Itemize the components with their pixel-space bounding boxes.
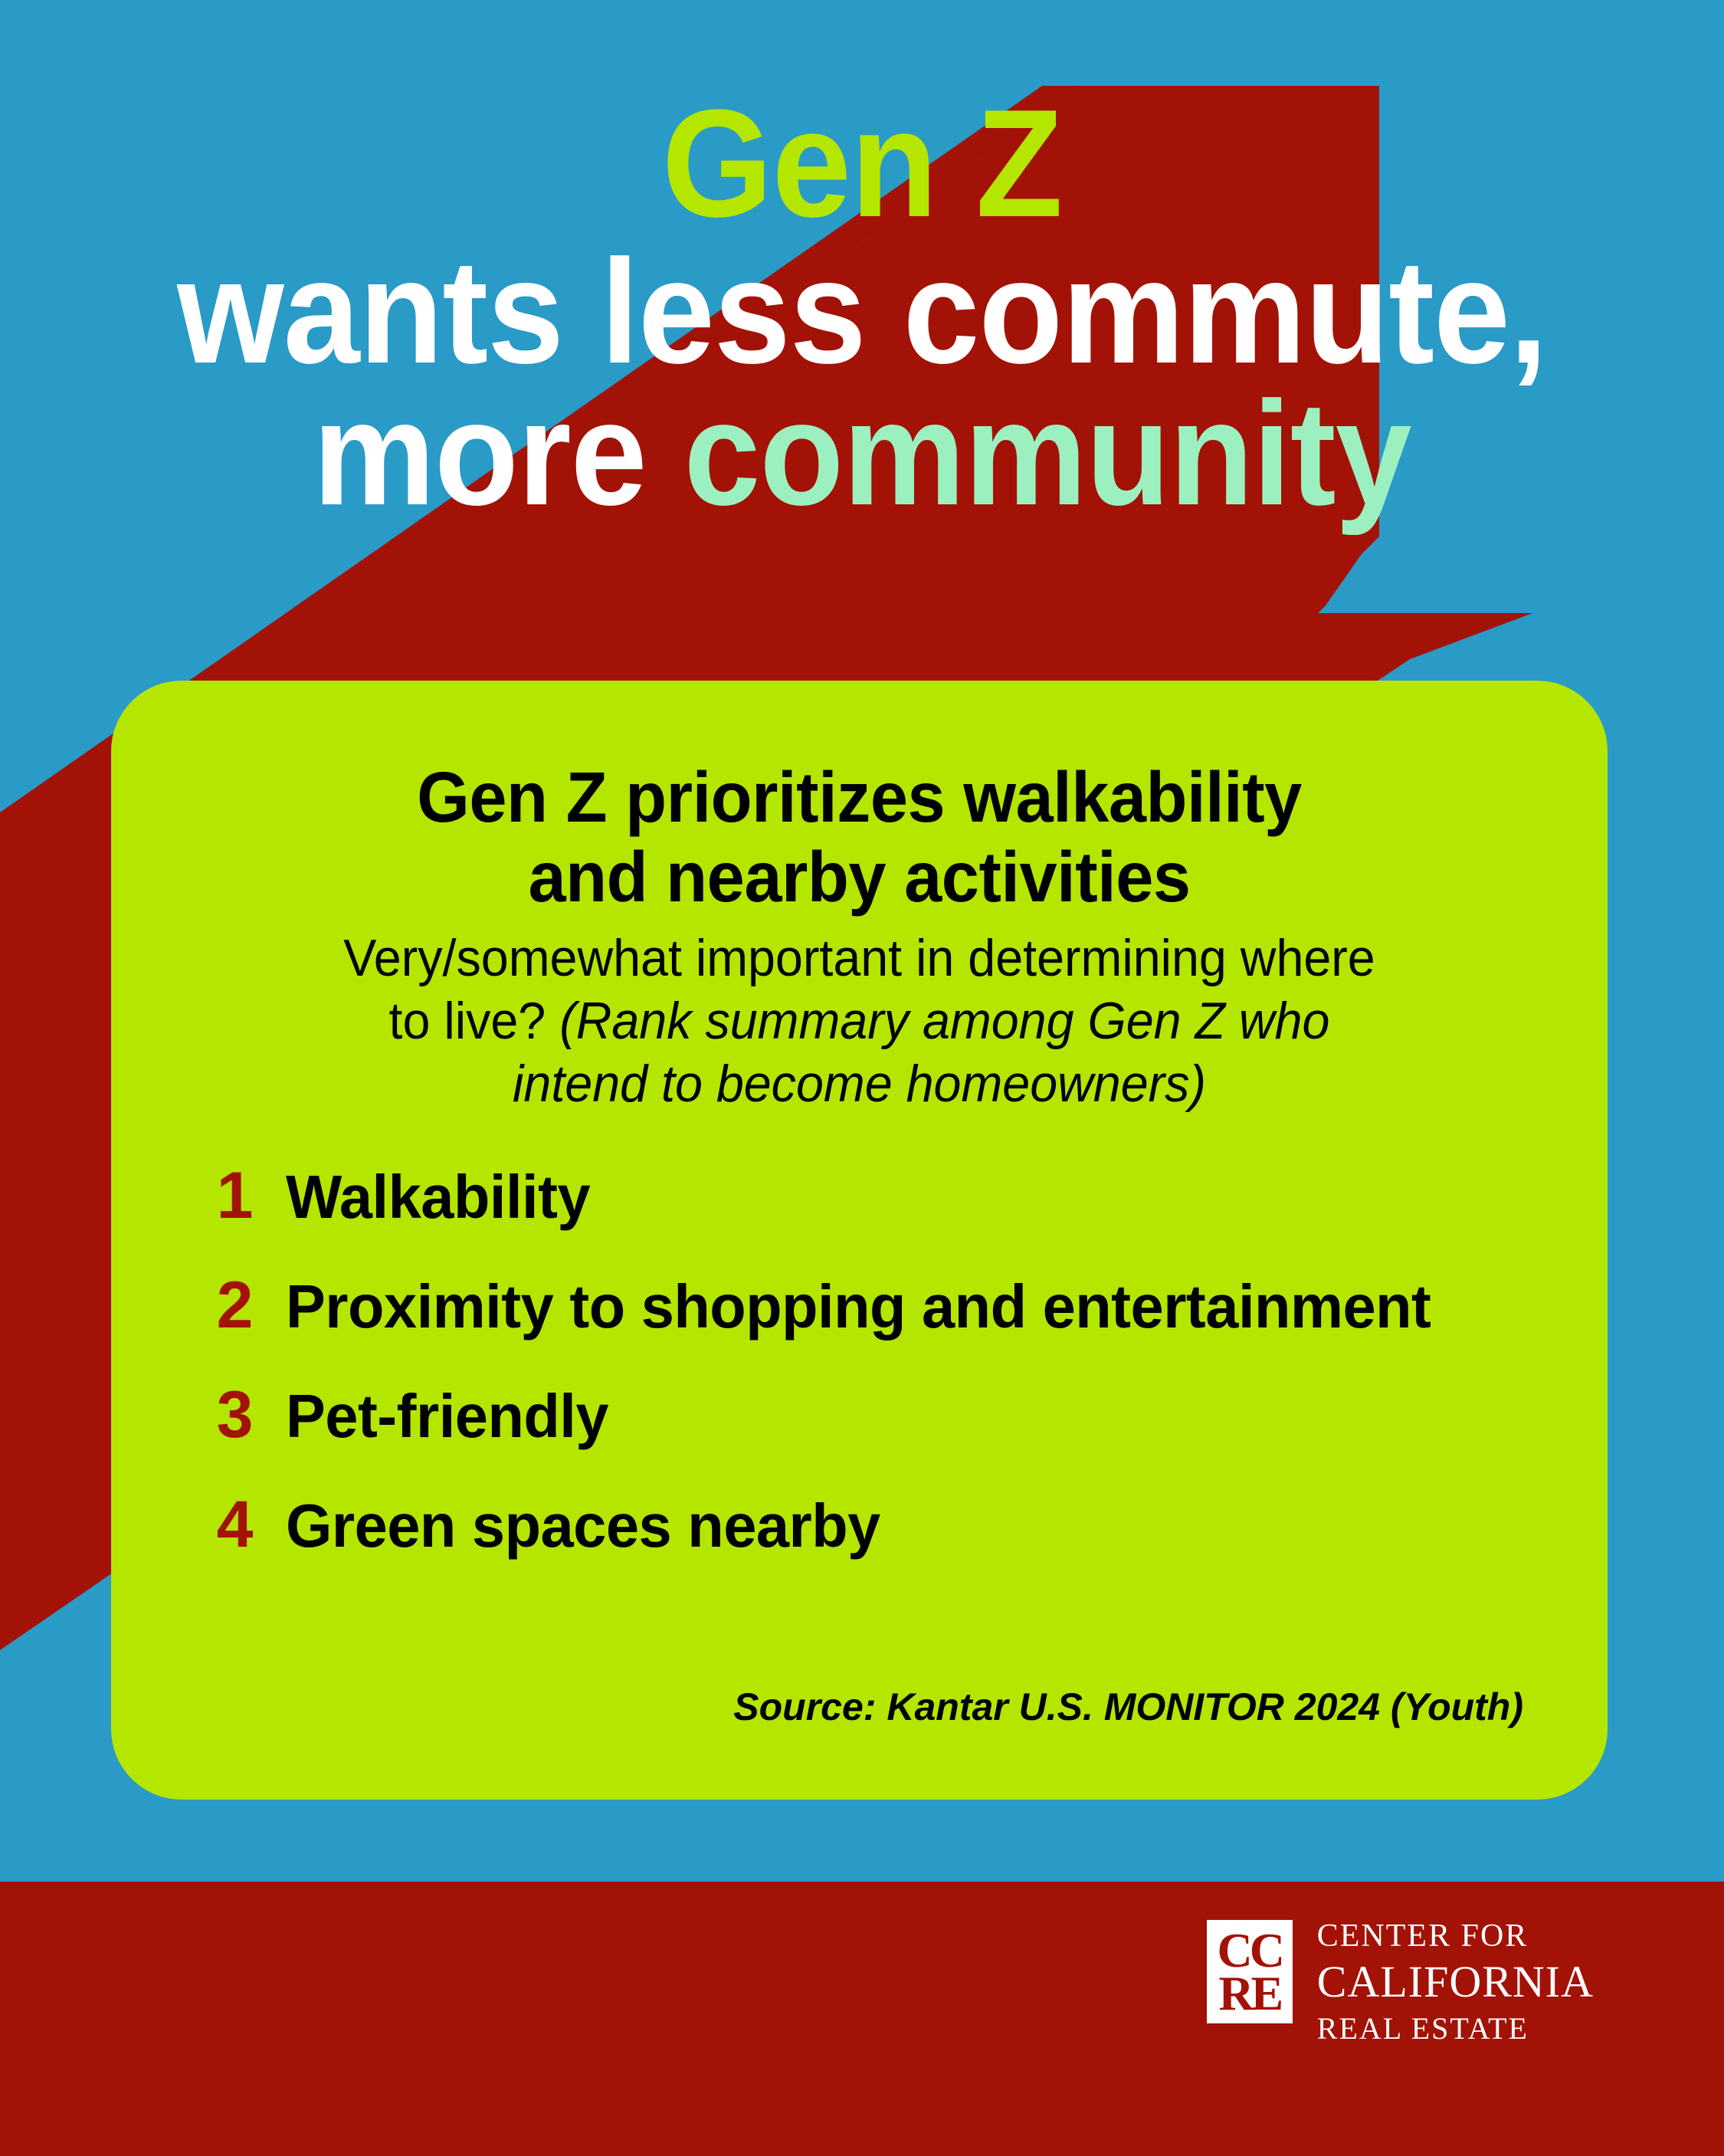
headline-line-1: Gen Z (61, 90, 1664, 238)
card-title-line-1: Gen Z prioritizes walkability (194, 757, 1526, 837)
rank-label: Green spaces nearby (286, 1491, 880, 1561)
card-subtitle-line-1: Very/somewhat important in determining w… (194, 927, 1526, 990)
card-subtitle-line-2: to live? (Rank summary among Gen Z who (194, 990, 1526, 1053)
logo-text-line-3: REAL ESTATE (1317, 2013, 1594, 2044)
logo-text-line-2: CALIFORNIA (1317, 1960, 1594, 2004)
rank-label: Walkability (286, 1162, 590, 1232)
card-subtitle-line-2-italic: (Rank summary among Gen Z who (559, 992, 1329, 1050)
ccre-logo-text: CENTER FOR CALIFORNIA REAL ESTATE (1317, 1920, 1594, 2044)
logo-text-line-1: CENTER FOR (1317, 1920, 1594, 1952)
card-title-line-2: and nearby activities (194, 837, 1526, 917)
infographic-poster: Gen Z wants less commute, more community… (0, 0, 1724, 2156)
card-title: Gen Z prioritizes walkability and nearby… (194, 681, 1526, 917)
headline-line-3-part2: community (684, 370, 1411, 536)
list-item: 4 Green spaces nearby (202, 1487, 1560, 1563)
card-subtitle-line-3: intend to become homeowners) (194, 1053, 1526, 1116)
ccre-logo-mark-icon: CC RE (1207, 1920, 1293, 2023)
list-item: 3 Pet-friendly (202, 1377, 1560, 1453)
headline: Gen Z wants less commute, more community (0, 90, 1724, 525)
rank-number: 4 (202, 1487, 267, 1563)
rank-number: 2 (202, 1268, 267, 1344)
logo-mark-re: RE (1207, 1969, 1293, 2018)
card-subtitle: Very/somewhat important in determining w… (194, 927, 1526, 1115)
card-subtitle-line-2-plain: to live? (389, 992, 560, 1050)
source-attribution: Source: Kantar U.S. MONITOR 2024 (Youth) (733, 1685, 1523, 1729)
headline-line-3: more community (61, 382, 1664, 524)
rank-label: Proximity to shopping and entertainment (286, 1272, 1431, 1342)
rank-label: Pet-friendly (286, 1381, 608, 1452)
list-item: 1 Walkability (202, 1158, 1560, 1234)
footer-bar: CC RE CENTER FOR CALIFORNIA REAL ESTATE (0, 1882, 1724, 2156)
content-card: Gen Z prioritizes walkability and nearby… (111, 681, 1608, 1800)
ccre-logo: CC RE CENTER FOR CALIFORNIA REAL ESTATE (1207, 1920, 1594, 2044)
list-item: 2 Proximity to shopping and entertainmen… (202, 1268, 1560, 1344)
rank-number: 3 (202, 1377, 267, 1453)
headline-line-3-part1: more (313, 370, 683, 536)
ranked-priority-list: 1 Walkability 2 Proximity to shopping an… (159, 1158, 1560, 1563)
headline-line-2: wants less commute, (61, 241, 1664, 382)
rank-number: 1 (202, 1158, 267, 1234)
